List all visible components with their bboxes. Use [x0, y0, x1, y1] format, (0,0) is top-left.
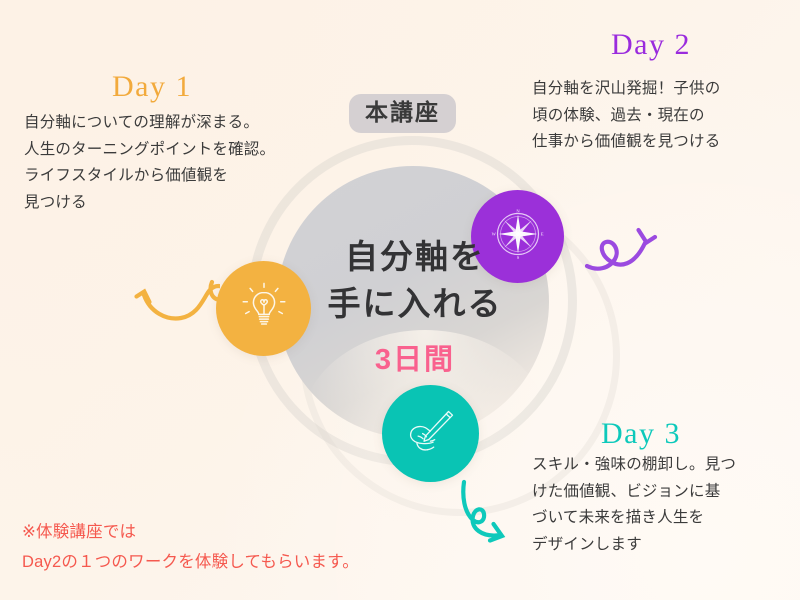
curly-arrow-up-left-icon — [124, 264, 220, 355]
center-headline: 自分軸を 手に入れる 3日間 — [300, 234, 530, 378]
curly-arrow-up-right-icon — [585, 196, 681, 287]
writing-hand-icon — [400, 400, 462, 467]
main-course-badge: 本講座 — [349, 94, 456, 133]
day1-heading: Day 1 — [112, 70, 192, 104]
svg-text:N: N — [516, 208, 520, 213]
svg-text:E: E — [540, 232, 543, 237]
center-duration: 3日間 — [300, 336, 530, 378]
day1-description: 自分軸についての理解が深まる。 人生のターニングポイントを確認。 ライフスタイル… — [24, 110, 354, 217]
lightbulb-icon — [236, 278, 292, 339]
day2-description: 自分軸を沢山発掘！子供の 頃の体験、過去・現在の 仕事から価値観を見つける — [532, 76, 800, 156]
day1-icon-circle[interactable] — [216, 261, 311, 356]
day2-heading: Day 2 — [611, 28, 691, 62]
center-line-1: 自分軸を — [300, 234, 530, 281]
day3-heading: Day 3 — [601, 417, 681, 451]
infographic-canvas: N S E W 本講座 — [0, 0, 800, 600]
footnote: ※体験講座では Day2の１つのワークを体験してもらいます。 — [22, 518, 462, 577]
center-line-2: 手に入れる — [300, 281, 530, 328]
day3-description: スキル・強味の棚卸し。見つ けた価値観、ビジョンに基 づいて未来を描き人生を デ… — [532, 452, 800, 559]
